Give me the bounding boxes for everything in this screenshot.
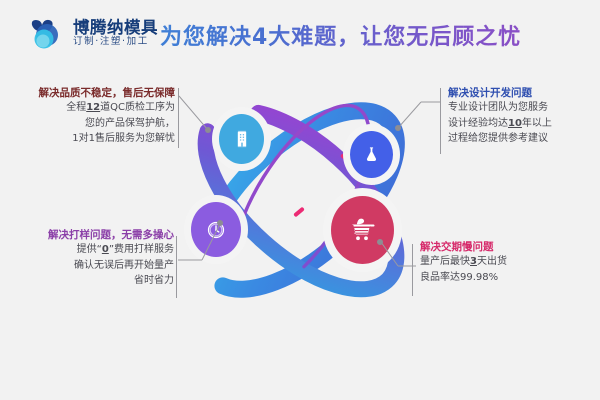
callout-line: 省时省力	[14, 273, 174, 289]
callout-sample-body: 提供“0”费用打样服务 确认无误后再开始量产 省时省力	[14, 242, 174, 289]
callout-quality: 解决品质不稳定，售后无保障 全程12道QC质检工序为 您的产品保驾护航， 1对1…	[20, 86, 175, 147]
logo-text-group: 博腾纳模具 订制·注塑·加工	[73, 19, 158, 47]
callout-sample: 解决打样问题，无需多操心 提供“0”费用打样服务 确认无误后再开始量产 省时省力	[14, 228, 174, 289]
callout-quality-title: 解决品质不稳定，售后无保障	[20, 86, 175, 100]
orbit-ribbons-svg	[180, 78, 422, 322]
callout-quality-body: 全程12道QC质检工序为 您的产品保驾护航， 1对1售后服务为您解忧	[20, 100, 175, 147]
connector-quality	[178, 94, 216, 140]
brand-logo[interactable]: 博腾纳模具 订制·注塑·加工	[28, 16, 158, 50]
callout-line: 量产后最快3天出货	[420, 254, 590, 270]
callout-delivery-title: 解决交期慢问题	[420, 240, 590, 254]
molecule-logo-icon	[28, 16, 66, 50]
connector-dot-sample	[217, 220, 223, 226]
callout-line: 良品率达99.98%	[420, 270, 590, 286]
callout-delivery-body: 量产后最快3天出货 良品率达99.98%	[420, 254, 590, 285]
flask-icon[interactable]	[350, 131, 393, 178]
logo-subtitle: 订制·注塑·加工	[73, 37, 158, 47]
building-icon[interactable]	[219, 114, 264, 164]
header: 博腾纳模具 订制·注塑·加工 为您解决4大难题，让您无后顾之忧	[0, 0, 600, 66]
logo-company-name: 博腾纳模具	[73, 19, 158, 36]
promo-banner-page: 博腾纳模具 订制·注塑·加工 为您解决4大难题，让您无后顾之忧	[0, 0, 600, 400]
callout-line: 设计经验均达10年以上	[448, 116, 598, 132]
callout-design-body: 专业设计团队为您服务 设计经验均达10年以上 过程给您提供参考建议	[448, 100, 598, 147]
callout-line: 提供“0”费用打样服务	[14, 242, 174, 258]
callout-line: 1对1售后服务为您解忧	[20, 131, 175, 147]
page-title: 为您解决4大难题，让您无后顾之忧	[160, 19, 521, 51]
connector-dot-design	[395, 125, 401, 131]
connector-dot-quality	[205, 127, 211, 133]
callout-line: 全程12道QC质检工序为	[20, 100, 175, 116]
callout-line: 专业设计团队为您服务	[448, 100, 598, 116]
callout-design: 解决设计开发问题 专业设计团队为您服务 设计经验均达10年以上 过程给您提供参考…	[448, 86, 598, 147]
connector-design	[395, 100, 443, 142]
callout-line: 您的产品保驾护航，	[20, 116, 175, 132]
callout-design-title: 解决设计开发问题	[448, 86, 598, 100]
connector-delivery	[378, 238, 418, 274]
atom-orbit-graphic	[180, 78, 422, 322]
footer: 深圳市博腾纳科技有限公司创建于2010年，成立以来致力于模具开模、注塑 加工、喷…	[0, 326, 600, 400]
callout-line: 过程给您提供参考建议	[448, 131, 598, 147]
callout-sample-title: 解决打样问题，无需多操心	[14, 228, 174, 242]
callout-line: 确认无误后再开始量产	[14, 258, 174, 274]
callout-delivery: 解决交期慢问题 量产后最快3天出货 良品率达99.98%	[420, 240, 590, 285]
connector-dot-delivery	[377, 239, 383, 245]
